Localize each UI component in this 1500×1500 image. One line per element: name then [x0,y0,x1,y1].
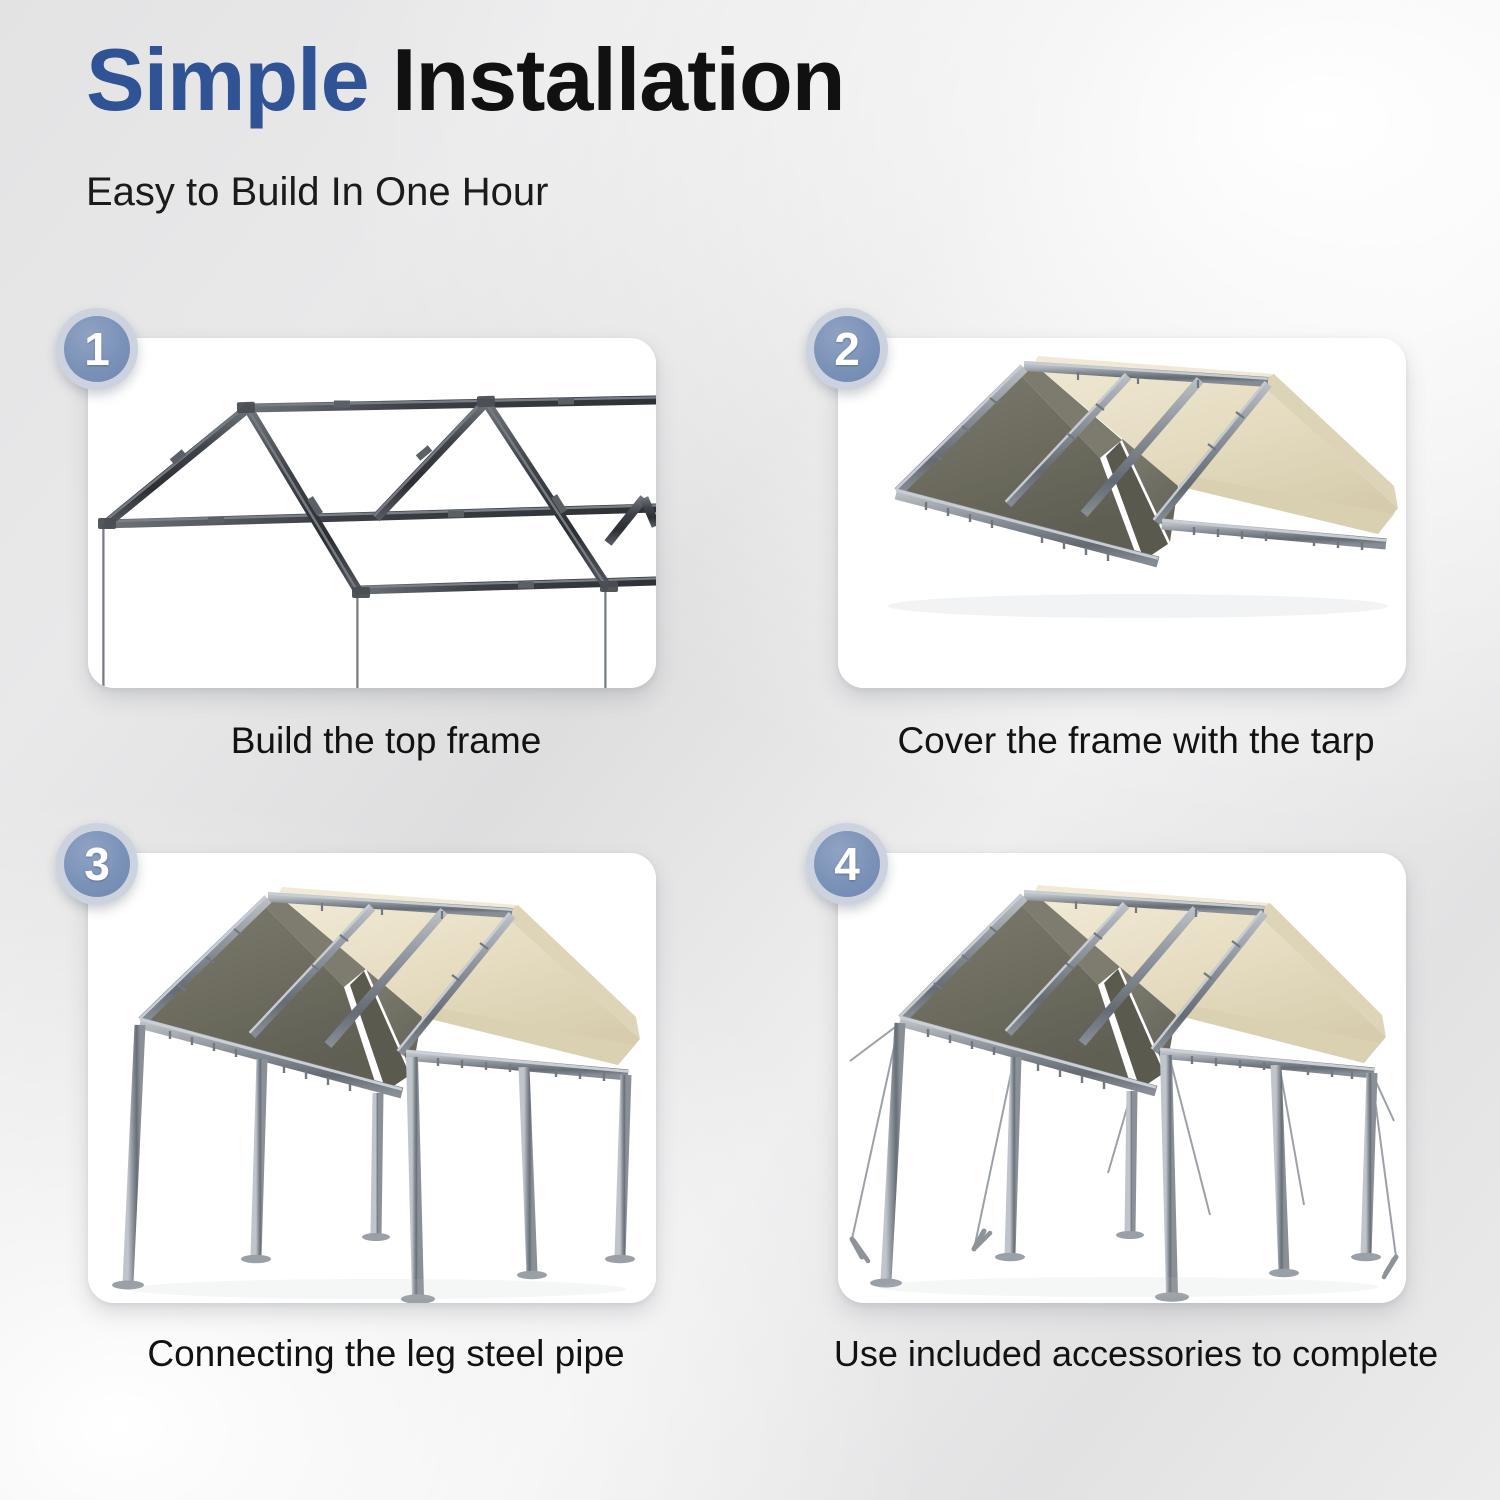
step-4-card [838,853,1406,1303]
step-3-badge: 3 [56,823,138,905]
step-4-badge: 4 [806,823,888,905]
step-2: 2 Cover the frame with the tarp [806,290,1466,860]
step-2-badge-inner: 2 [814,316,880,382]
roof-with-tarp-illustration [838,338,1406,688]
step-4-caption: Use included accessories to complete [806,1333,1466,1375]
page-subtitle: Easy to Build In One Hour [86,170,1426,215]
step-3-card [88,853,656,1303]
header: Simple Installation Easy to Build In One… [86,34,1426,215]
step-4: 4 Use included accessories to complete [806,805,1466,1375]
step-2-caption: Cover the frame with the tarp [806,720,1466,762]
step-1-number: 1 [84,326,110,372]
step-1-badge: 1 [56,308,138,390]
step-2-card [838,338,1406,688]
step-2-number: 2 [834,326,860,372]
step-4-number: 4 [834,841,860,887]
step-1-caption: Build the top frame [56,720,716,762]
page-title-highlight: Simple [86,30,369,129]
page-title-rest: Installation [392,30,845,129]
step-3-number: 3 [84,841,110,887]
step-1-card [88,338,656,688]
canopy-with-guy-ropes-illustration [838,853,1406,1303]
step-1-badge-inner: 1 [64,316,130,382]
step-4-badge-inner: 4 [814,831,880,897]
step-3-badge-inner: 3 [64,831,130,897]
step-1: 1 Build the top frame [56,290,716,860]
installation-steps: 1 Build the top frame [0,270,1500,1460]
canopy-with-legs-illustration [88,853,656,1303]
step-2-badge: 2 [806,308,888,390]
page-title: Simple Installation [86,34,1426,126]
top-frame-closeup-illustration [88,338,656,688]
step-3-caption: Connecting the leg steel pipe [56,1333,716,1375]
step-3: 3 Connecting the leg steel pipe [56,805,716,1375]
